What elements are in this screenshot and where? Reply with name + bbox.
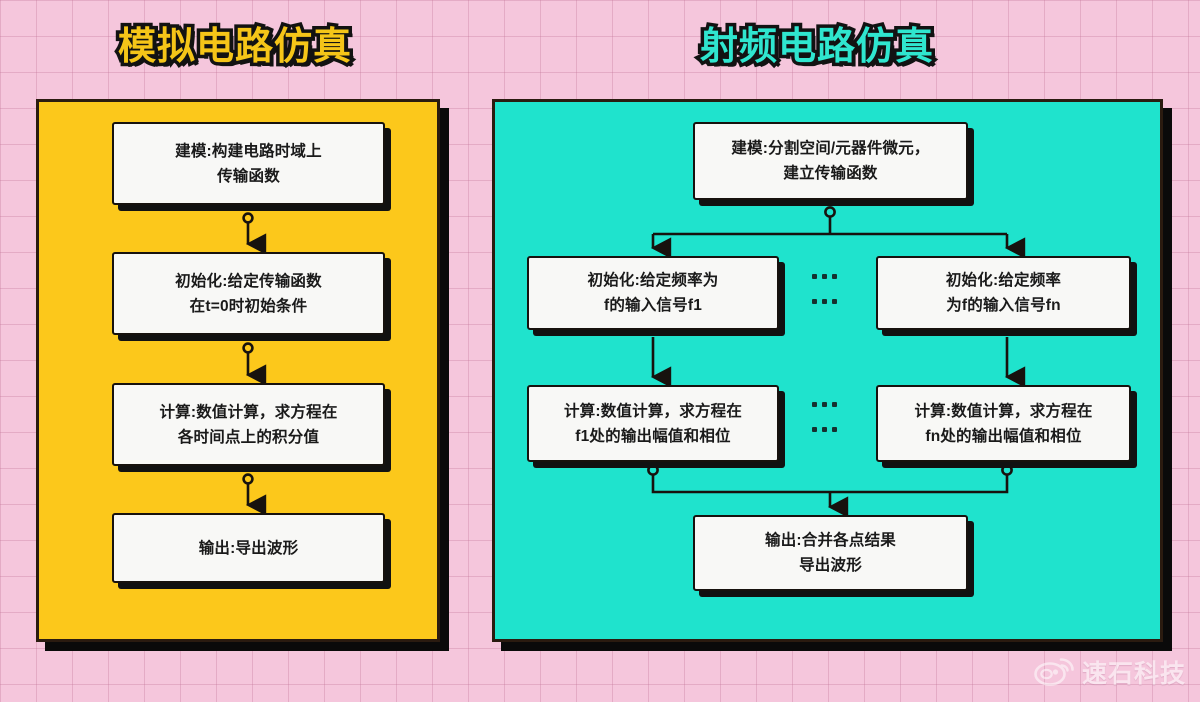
weibo-logo-icon bbox=[1034, 657, 1076, 687]
node-line-1: 建模:分割空间/元器件微元， bbox=[731, 136, 929, 161]
node-line-1: 计算:数值计算，求方程在 bbox=[159, 400, 337, 425]
node-line-2: 导出波形 bbox=[799, 553, 862, 578]
right-node-init-fn[interactable]: 初始化:给定频率 为f的输入信号fn bbox=[876, 256, 1131, 330]
node-line-2: 为f的输入信号fn bbox=[946, 293, 1061, 318]
watermark: 速石科技 bbox=[1034, 654, 1186, 690]
right-node-calc-f1[interactable]: 计算:数值计算，求方程在 f1处的输出幅值和相位 bbox=[527, 385, 779, 462]
node-line-1: 计算:数值计算，求方程在 bbox=[914, 399, 1092, 424]
right-node-calc-fn[interactable]: 计算:数值计算，求方程在 fn处的输出幅值和相位 bbox=[876, 385, 1131, 462]
node-line-2: f的输入信号f1 bbox=[604, 293, 702, 318]
left-node-model[interactable]: 建模:构建电路时域上 传输函数 bbox=[112, 122, 385, 205]
ellipsis-calc-row-lower bbox=[812, 427, 837, 432]
right-node-init-f1[interactable]: 初始化:给定频率为 f的输入信号f1 bbox=[527, 256, 779, 330]
left-node-init[interactable]: 初始化:给定传输函数 在t=0时初始条件 bbox=[112, 252, 385, 335]
ellipsis-init-row-lower bbox=[812, 299, 837, 304]
right-section-title: 射频电路仿真 bbox=[700, 22, 934, 72]
node-line-2: 传输函数 bbox=[217, 164, 280, 189]
node-line-2: 在t=0时初始条件 bbox=[190, 294, 308, 319]
node-line-2: f1处的输出幅值和相位 bbox=[575, 424, 730, 449]
node-line-1: 输出:导出波形 bbox=[199, 536, 299, 561]
left-section-title: 模拟电路仿真 bbox=[118, 22, 352, 72]
watermark-text: 速石科技 bbox=[1082, 654, 1186, 690]
left-node-output[interactable]: 输出:导出波形 bbox=[112, 513, 385, 583]
ellipsis-init-row-upper bbox=[812, 274, 837, 279]
left-node-calc[interactable]: 计算:数值计算，求方程在 各时间点上的积分值 bbox=[112, 383, 385, 466]
node-line-2: 各时间点上的积分值 bbox=[178, 425, 319, 450]
node-line-1: 初始化:给定频率 bbox=[946, 268, 1061, 293]
node-line-1: 初始化:给定传输函数 bbox=[175, 269, 322, 294]
node-line-1: 建模:构建电路时域上 bbox=[175, 139, 322, 164]
right-node-output[interactable]: 输出:合并各点结果 导出波形 bbox=[693, 515, 968, 591]
node-line-1: 计算:数值计算，求方程在 bbox=[564, 399, 742, 424]
node-line-1: 输出:合并各点结果 bbox=[765, 528, 896, 553]
right-node-model[interactable]: 建模:分割空间/元器件微元， 建立传输函数 bbox=[693, 122, 968, 200]
node-line-2: 建立传输函数 bbox=[783, 161, 877, 186]
node-line-1: 初始化:给定频率为 bbox=[588, 268, 719, 293]
node-line-2: fn处的输出幅值和相位 bbox=[925, 424, 1081, 449]
ellipsis-calc-row-upper bbox=[812, 402, 837, 407]
slide-canvas: 模拟电路仿真 射频电路仿真 bbox=[0, 0, 1200, 702]
